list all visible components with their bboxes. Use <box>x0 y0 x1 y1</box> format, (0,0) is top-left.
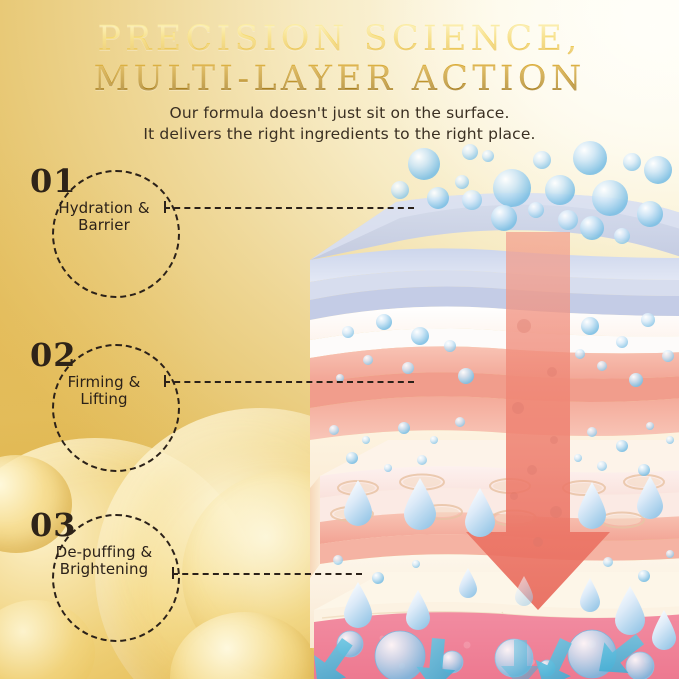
step-number: 01 <box>30 162 77 200</box>
epidermis-layer <box>310 193 679 358</box>
page-subtitle: Our formula doesn't just sit on the surf… <box>0 103 679 145</box>
connector-dashed-line <box>172 573 362 575</box>
connector-dashed-line <box>164 381 414 383</box>
step-number: 02 <box>30 336 77 374</box>
page-title: PRECISION SCIENCE, MULTI-LAYER ACTION <box>0 20 679 100</box>
step-label: De-puffing & Brightening <box>38 544 170 579</box>
step-label: Hydration & Barrier <box>38 200 170 235</box>
skin-cross-section-diagram <box>292 140 679 679</box>
infographic-canvas: PRECISION SCIENCE, MULTI-LAYER ACTION Ou… <box>0 0 679 679</box>
connector-dashed-line <box>164 207 414 209</box>
step-number: 03 <box>30 506 77 544</box>
step-label: Firming & Lifting <box>38 374 170 409</box>
deep-tissue-band <box>292 600 679 679</box>
